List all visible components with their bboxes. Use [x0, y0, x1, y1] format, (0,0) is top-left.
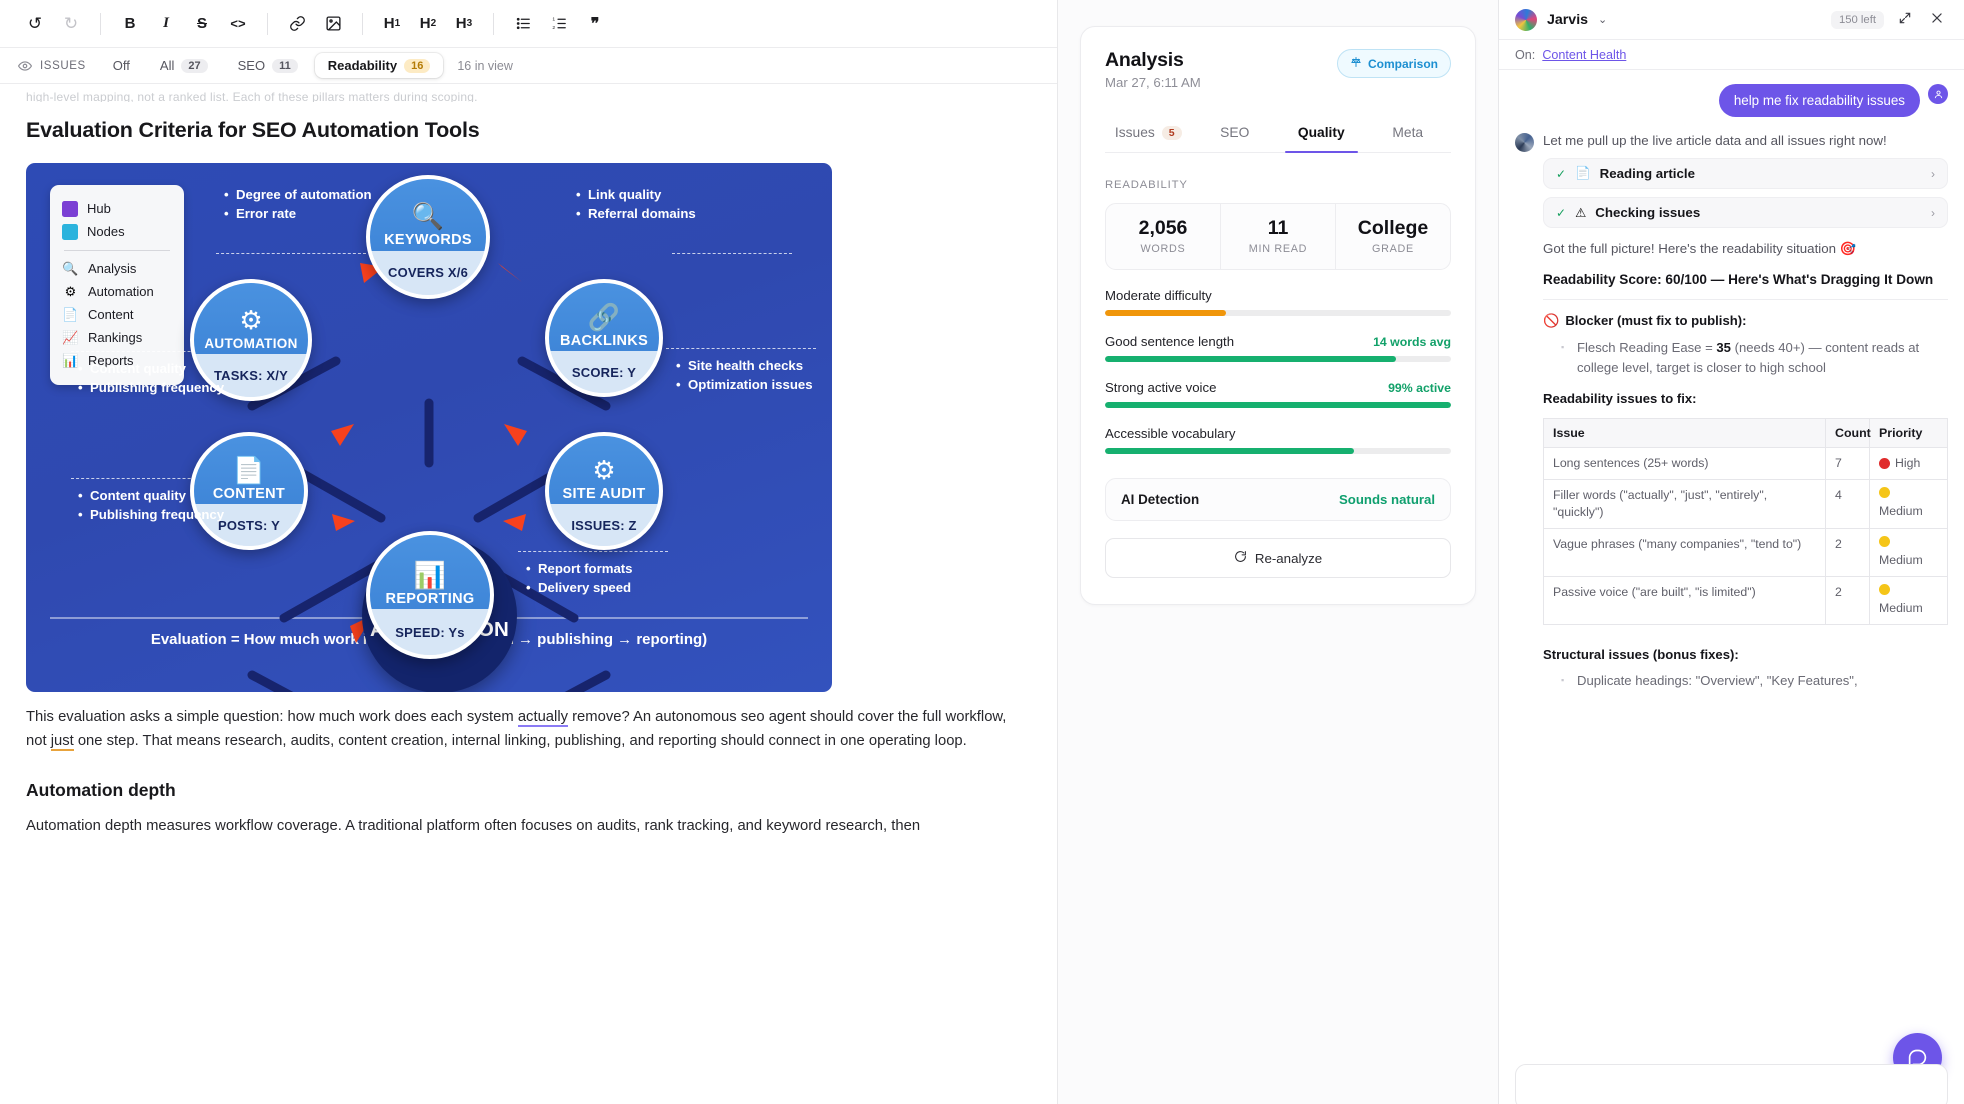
close-icon[interactable] [1926, 11, 1948, 28]
stat-key: GRADE [1336, 243, 1450, 255]
table-row: Filler words ("actually", "just", "entir… [1544, 480, 1948, 529]
filter-chip-all[interactable]: All27 [147, 53, 221, 78]
bar-chart-icon: 📊 [414, 562, 446, 588]
re-analyze-button[interactable]: Re-analyze [1105, 538, 1451, 578]
cell-priority: Medium [1870, 480, 1948, 529]
node-metric: SCORE: Y [572, 365, 636, 380]
para-part: This evaluation asks a simple question: … [26, 709, 518, 725]
strike-glyph: S [197, 15, 207, 32]
chat-column: Jarvis ⌄ 150 left On: Content Health hel… [1498, 0, 1964, 1104]
chip-label: Off [113, 58, 130, 73]
readability-score-headline: Readability Score: 60/100 — Here's What'… [1543, 270, 1948, 289]
annotation-item: Link quality [576, 185, 696, 204]
issues-filter-bar: ISSUES Off All27 SEO11 Readability16 16 … [0, 48, 1057, 84]
code-icon[interactable]: <> [221, 7, 255, 41]
priority-dot-high [1879, 458, 1890, 469]
chevron-right-icon: › [1931, 167, 1935, 181]
node-keywords: 🔍KEYWORDS COVERS X/6 [366, 175, 490, 299]
filter-chip-seo[interactable]: SEO11 [225, 53, 311, 78]
structural-heading: Structural issues (bonus fixes): [1543, 647, 1739, 662]
readability-section-label: READABILITY [1105, 179, 1451, 191]
node-reporting: 📊REPORTING SPEED: Ys [366, 531, 494, 659]
link-icon: 🔗 [588, 304, 620, 330]
metric-label: Good sentence length [1105, 334, 1234, 349]
assistant-message-body: Let me pull up the live article data and… [1543, 131, 1948, 692]
annotation-low-right: Report formats Delivery speed [526, 559, 633, 597]
user-message-row: help me fix readability issues [1515, 84, 1948, 117]
credits-badge: 150 left [1831, 11, 1884, 29]
section-divider [1543, 299, 1948, 300]
list-item: Flesch Reading Ease = 35 (needs 40+) — c… [1561, 338, 1948, 379]
cell-count: 7 [1826, 448, 1870, 480]
toolbar-divider [362, 13, 363, 35]
priority-label: High [1895, 455, 1920, 472]
strikethrough-icon[interactable]: S [185, 7, 219, 41]
node-metric: COVERS X/6 [388, 265, 468, 280]
expand-icon[interactable] [1894, 11, 1916, 28]
node-name: SITE AUDIT [562, 487, 645, 502]
italic-glyph: I [163, 15, 169, 32]
page-title: Evaluation Criteria for SEO Automation T… [26, 118, 1031, 143]
list-item: Duplicate headings: "Overview", "Key Fea… [1561, 671, 1948, 691]
metric-bar-fill [1105, 310, 1226, 316]
metric-bar-fill [1105, 402, 1451, 408]
annotation-mid-right: Site health checks Optimization issues [676, 356, 813, 394]
table-header-row: Issue Count Priority [1544, 419, 1948, 448]
comparison-button[interactable]: Comparison [1337, 49, 1451, 78]
table-row: Vague phrases ("many companies", "tend t… [1544, 529, 1948, 577]
stat-key: MIN READ [1221, 243, 1335, 255]
h2-sub: 2 [431, 18, 437, 29]
refresh-icon [1234, 550, 1247, 566]
stat-value: 2,056 [1106, 217, 1220, 240]
structural-heading-row: Structural issues (bonus fixes): [1543, 647, 1948, 662]
body-paragraph-1: This evaluation asks a simple question: … [26, 706, 1031, 754]
bold-icon[interactable]: B [113, 7, 147, 41]
ai-detection-box: AI Detection Sounds natural [1105, 478, 1451, 521]
ai-detection-label: AI Detection [1121, 492, 1199, 507]
in-view-count: 16 in view [457, 59, 513, 73]
metric-value: 99% active [1388, 381, 1451, 395]
annotation-top-right: Link quality Referral domains [576, 185, 696, 223]
node-name: REPORTING [386, 592, 475, 607]
annotation-item: Site health checks [676, 356, 813, 375]
context-value[interactable]: Content Health [1542, 48, 1626, 62]
h1-glyph: H [384, 15, 395, 32]
annotation-item: Referral domains [576, 204, 696, 223]
ai-detection-value: Sounds natural [1339, 492, 1435, 507]
chat-messages: help me fix readability issues Let me pu… [1499, 70, 1964, 1104]
comparison-label: Comparison [1368, 57, 1438, 71]
code-glyph: <> [230, 16, 245, 31]
svg-text:1: 1 [552, 17, 555, 23]
structural-list: Duplicate headings: "Overview", "Key Fea… [1543, 671, 1948, 691]
issues-heading: Readability issues to fix: [1543, 391, 1697, 406]
formatting-toolbar: ↺ ↻ B I S <> H1 H2 H3 12 ❞ [0, 0, 1057, 48]
tab-label: Meta [1392, 125, 1423, 140]
chip-count: 11 [272, 59, 298, 73]
table-row: Long sentences (25+ words) 7 High [1544, 448, 1948, 480]
assistant-intro-text: Let me pull up the live article data and… [1543, 131, 1948, 150]
app-root: ↺ ↻ B I S <> H1 H2 H3 12 ❞ [0, 0, 1964, 1104]
annotation-low-left: Content quality Publishing frequency [78, 486, 224, 524]
tab-issues[interactable]: Issues5 [1105, 116, 1192, 152]
analysis-timestamp: Mar 27, 6:11 AM [1105, 75, 1201, 90]
bullet-list-icon[interactable] [506, 7, 540, 41]
tab-seo[interactable]: SEO [1192, 116, 1279, 152]
tab-label: Quality [1298, 125, 1345, 140]
analysis-tabs: Issues5 SEO Quality Meta [1105, 116, 1451, 153]
metric-label: Strong active voice [1105, 380, 1216, 395]
filter-chip-off[interactable]: Off [100, 53, 143, 78]
annotation-item: Publishing frequency [78, 378, 224, 397]
assistant-avatar [1515, 133, 1534, 152]
assistant-message-row: Let me pull up the live article data and… [1515, 131, 1948, 692]
node-metric: ISSUES: Z [571, 518, 636, 533]
annotation-mid-left: Content quality Publishing frequency [78, 359, 224, 397]
blocker-list: Flesch Reading Ease = 35 (needs 40+) — c… [1543, 338, 1948, 379]
toolbar-divider [267, 13, 268, 35]
highlighted-word-actually[interactable]: actually [518, 709, 568, 727]
priority-dot-medium [1879, 584, 1890, 595]
tab-label: SEO [1220, 125, 1249, 140]
node-metric: POSTS: Y [218, 518, 280, 533]
document-icon: 📄 [1575, 166, 1591, 181]
link-icon[interactable] [280, 7, 314, 41]
column-header-count: Count [1826, 419, 1870, 448]
stat-value: College [1336, 217, 1450, 240]
chat-context-bar: On: Content Health [1499, 40, 1964, 70]
annotation-item: Optimization issues [676, 375, 813, 394]
cell-priority: Medium [1870, 577, 1948, 625]
leader-line [216, 253, 366, 254]
tool-step-checking-issues[interactable]: ✓ ⚠ Checking issues › [1543, 197, 1948, 228]
analysis-titles: Analysis Mar 27, 6:11 AM [1105, 49, 1201, 90]
quote-glyph: ❞ [591, 14, 600, 34]
column-header-issue: Issue [1544, 419, 1826, 448]
eye-icon [18, 59, 32, 73]
readability-issues-table: Issue Count Priority Long sentences (25+… [1543, 418, 1948, 625]
annotation-item: Publishing frequency [78, 505, 224, 524]
redo-icon[interactable]: ↻ [54, 7, 88, 41]
step-label: Reading article [1600, 166, 1922, 181]
leader-line [518, 551, 668, 552]
cell-priority: High [1870, 448, 1948, 480]
re-analyze-label: Re-analyze [1255, 551, 1322, 566]
check-icon: ✓ [1556, 206, 1566, 220]
bold-glyph: B [125, 15, 136, 32]
chip-label: Readability [328, 58, 397, 73]
metric-active-voice: Strong active voice99% active [1105, 380, 1451, 408]
chevron-right-icon: › [1931, 206, 1935, 220]
avatar [1515, 9, 1537, 31]
check-icon: ✓ [1556, 167, 1566, 181]
annotation-item: Report formats [526, 559, 633, 578]
infographic-image: Hub Nodes 🔍 Analysis ⚙ Automation [26, 163, 832, 692]
section-subheading: Automation depth [26, 780, 1031, 801]
annotation-item: Error rate [224, 204, 372, 223]
svg-text:2: 2 [552, 25, 555, 31]
gear-icon: ⚙ [239, 307, 262, 333]
assistant-name: Jarvis [1547, 12, 1588, 28]
blocker-bold: 35 [1716, 340, 1731, 355]
chip-label: SEO [238, 58, 265, 73]
chip-label: All [160, 58, 174, 73]
leader-line [666, 348, 816, 349]
cell-issue: Long sentences (25+ words) [1544, 448, 1826, 480]
blocker-heading-row: 🚫 Blocker (must fix to publish): [1543, 313, 1948, 329]
blocker-pre: Flesch Reading Ease = [1577, 340, 1716, 355]
stat-grade: College GRADE [1335, 204, 1450, 269]
blocker-icon: 🚫 [1543, 313, 1559, 329]
metric-label: Accessible vocabulary [1105, 426, 1235, 441]
highlighted-word-just[interactable]: just [51, 733, 74, 751]
blockquote-icon[interactable]: ❞ [578, 7, 612, 41]
para-part: one step. That means research, audits, c… [74, 733, 967, 749]
table-row: Passive voice ("are built", "is limited"… [1544, 577, 1948, 625]
priority-label: Medium [1879, 552, 1923, 569]
cell-issue: Vague phrases ("many companies", "tend t… [1544, 529, 1826, 577]
node-metric: TASKS: X/Y [214, 368, 288, 383]
toolbar-divider [493, 13, 494, 35]
metric-bar-fill [1105, 356, 1396, 362]
stat-words: 2,056 WORDS [1106, 204, 1220, 269]
h3-sub: 3 [467, 18, 473, 29]
node-name: KEYWORDS [384, 233, 472, 248]
document-icon: 📄 [233, 457, 265, 483]
undo-icon[interactable]: ↺ [18, 7, 52, 41]
gear-icon: ⚙ [592, 457, 615, 483]
clipped-paragraph: high-level mapping, not a ranked list. E… [26, 84, 1031, 102]
priority-dot-medium [1879, 487, 1890, 498]
blocker-heading: Blocker (must fix to publish): [1565, 313, 1746, 328]
metric-value: 14 words avg [1373, 335, 1451, 349]
cell-priority: Medium [1870, 529, 1948, 577]
chevron-down-icon[interactable]: ⌄ [1598, 13, 1607, 26]
user-avatar-icon [1928, 84, 1948, 104]
context-key: On: [1515, 48, 1535, 62]
metric-label: Moderate difficulty [1105, 288, 1212, 303]
document-canvas[interactable]: high-level mapping, not a ranked list. E… [0, 84, 1057, 1104]
h1-sub: 1 [395, 18, 401, 29]
column-header-priority: Priority [1870, 419, 1948, 448]
annotation-item: Delivery speed [526, 578, 633, 597]
annotation-item: Content quality [78, 359, 224, 378]
node-site-audit: ⚙SITE AUDIT ISSUES: Z [545, 432, 663, 550]
priority-label: Medium [1879, 503, 1923, 520]
tool-step-reading-article[interactable]: ✓ 📄 Reading article › [1543, 158, 1948, 189]
metric-bar-fill [1105, 448, 1354, 454]
node-backlinks: 🔗BACKLINKS SCORE: Y [545, 279, 663, 397]
heading-2-icon[interactable]: H2 [411, 7, 445, 41]
step-label: Checking issues [1595, 205, 1922, 220]
annotation-top-left: Degree of automation Error rate [224, 185, 372, 223]
analysis-card-header: Analysis Mar 27, 6:11 AM Comparison [1105, 49, 1451, 90]
h3-glyph: H [456, 15, 467, 32]
tab-badge: 5 [1162, 126, 1182, 140]
tab-quality[interactable]: Quality [1278, 116, 1365, 152]
h2-glyph: H [420, 15, 431, 32]
tab-label: Issues [1115, 125, 1155, 140]
analysis-card: Analysis Mar 27, 6:11 AM Comparison Issu… [1080, 26, 1476, 605]
issues-heading-row: Readability issues to fix: [1543, 391, 1948, 406]
stat-key: WORDS [1106, 243, 1220, 255]
node-metric: SPEED: Ys [395, 625, 464, 640]
priority-dot-medium [1879, 536, 1890, 547]
italic-icon[interactable]: I [149, 7, 183, 41]
analysis-column: Analysis Mar 27, 6:11 AM Comparison Issu… [1058, 0, 1498, 1104]
chat-composer-input[interactable] [1515, 1064, 1948, 1104]
issues-label: ISSUES [40, 60, 86, 72]
chat-header: Jarvis ⌄ 150 left [1499, 0, 1964, 40]
user-message: help me fix readability issues [1719, 84, 1920, 117]
annotation-item: Degree of automation [224, 185, 372, 204]
metric-sentence-length: Good sentence length14 words avg [1105, 334, 1451, 362]
scales-icon [1350, 56, 1362, 71]
cell-issue: Passive voice ("are built", "is limited"… [1544, 577, 1826, 625]
warning-icon: ⚠ [1575, 205, 1586, 220]
numbered-list-icon[interactable]: 12 [542, 7, 576, 41]
filter-chip-readability[interactable]: Readability16 [315, 53, 444, 78]
cell-issue: Filler words ("actually", "just", "entir… [1544, 480, 1826, 529]
cell-count: 2 [1826, 529, 1870, 577]
readability-stats: 2,056 WORDS 11 MIN READ College GRADE [1105, 203, 1451, 270]
metric-vocabulary: Accessible vocabulary [1105, 426, 1451, 454]
metric-difficulty: Moderate difficulty [1105, 288, 1451, 316]
body-paragraph-2: Automation depth measures workflow cover… [26, 815, 1031, 839]
heading-1-icon[interactable]: H1 [375, 7, 409, 41]
node-name: AUTOMATION [204, 337, 297, 351]
stat-value: 11 [1221, 217, 1335, 240]
annotation-item: Content quality [78, 486, 224, 505]
toolbar-divider [100, 13, 101, 35]
leader-line [672, 253, 792, 254]
assistant-after-steps-text: Got the full picture! Here's the readabi… [1543, 239, 1948, 258]
chip-count: 27 [181, 59, 207, 73]
cell-count: 4 [1826, 480, 1870, 529]
analysis-title: Analysis [1105, 49, 1201, 72]
priority-label: Medium [1879, 600, 1923, 617]
chip-count: 16 [404, 59, 430, 73]
node-name: BACKLINKS [560, 334, 648, 349]
tab-meta[interactable]: Meta [1365, 116, 1452, 152]
heading-3-icon[interactable]: H3 [447, 7, 481, 41]
editor-column: ↺ ↻ B I S <> H1 H2 H3 12 ❞ [0, 0, 1058, 1104]
magnifier-icon: 🔍 [412, 203, 444, 229]
stat-min-read: 11 MIN READ [1220, 204, 1335, 269]
image-icon[interactable] [316, 7, 350, 41]
cell-count: 2 [1826, 577, 1870, 625]
